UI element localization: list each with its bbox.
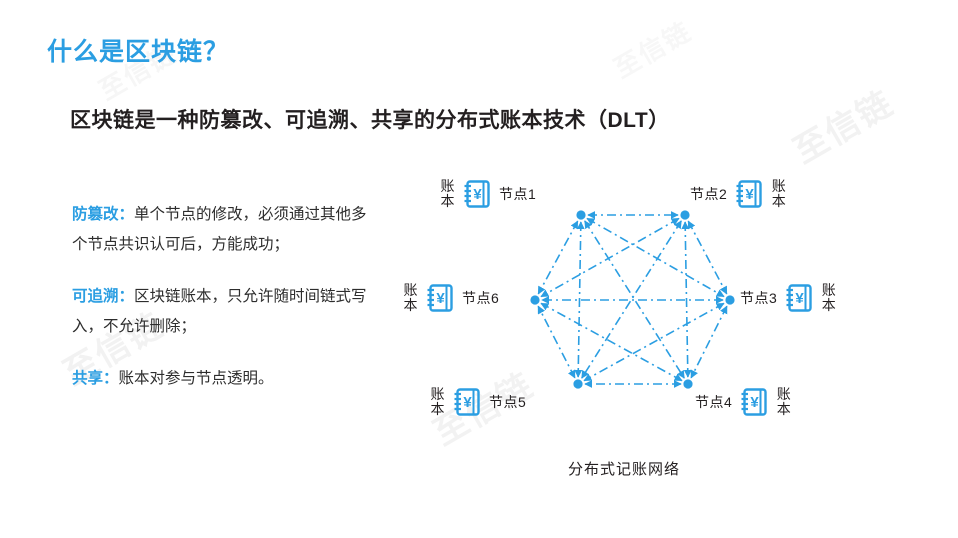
ledger-book-icon: ¥ bbox=[452, 386, 482, 418]
bullet-key: 防篡改 bbox=[72, 206, 119, 223]
ledger-label: 账本 bbox=[771, 179, 786, 209]
diagram-caption: 分布式记账网络 bbox=[568, 458, 680, 479]
node-cluster-node6[interactable]: 账本¥节点6 bbox=[403, 282, 499, 314]
svg-text:¥: ¥ bbox=[746, 186, 755, 203]
network-edge bbox=[691, 306, 727, 377]
watermark: 至信链 bbox=[783, 76, 901, 172]
page-title: 什么是区块链？ bbox=[47, 32, 229, 68]
node-label-node3: 节点3 bbox=[740, 288, 777, 308]
svg-text:¥: ¥ bbox=[751, 394, 760, 411]
list-item: 防篡改：单个节点的修改，必须通过其他多个节点共识认可后，方能成功； bbox=[72, 200, 372, 260]
network-edge bbox=[584, 303, 724, 380]
node-cluster-node1[interactable]: 账本¥节点1 bbox=[440, 178, 536, 210]
network-node-node5[interactable] bbox=[573, 379, 582, 388]
distributed-ledger-network-diagram: 账本¥节点1节点2¥账本节点3¥账本节点4¥账本账本¥节点5账本¥节点6 bbox=[395, 160, 915, 490]
ledger-label: 账本 bbox=[403, 283, 418, 313]
node-cluster-node5[interactable]: 账本¥节点5 bbox=[430, 386, 526, 418]
node-label-node2: 节点2 bbox=[690, 184, 727, 204]
bullet-separator: ： bbox=[119, 206, 135, 223]
bullet-key: 共享 bbox=[72, 370, 103, 387]
ledger-book-icon: ¥ bbox=[739, 386, 769, 418]
bullet-list: 防篡改：单个节点的修改，必须通过其他多个节点共识认可后，方能成功； 可追溯：区块… bbox=[72, 200, 372, 394]
network-edge bbox=[541, 303, 682, 380]
node-label-node6: 节点6 bbox=[462, 288, 499, 308]
bullet-separator: ： bbox=[119, 288, 135, 305]
svg-text:¥: ¥ bbox=[463, 394, 472, 411]
svg-text:¥: ¥ bbox=[473, 186, 482, 203]
network-edge bbox=[685, 222, 688, 377]
slide-canvas: 至信链 至信链 至信链 至信链 至信链 什么是区块链？ 区块链是一种防篡改、可追… bbox=[0, 0, 958, 538]
network-edge bbox=[538, 221, 577, 294]
svg-text:¥: ¥ bbox=[436, 290, 445, 307]
svg-text:¥: ¥ bbox=[796, 290, 805, 307]
ledger-book-icon: ¥ bbox=[734, 178, 764, 210]
bullet-key: 可追溯 bbox=[72, 288, 119, 305]
node-label-node5: 节点5 bbox=[489, 392, 526, 412]
ledger-label: 账本 bbox=[821, 283, 836, 313]
network-edge bbox=[538, 306, 575, 378]
ledger-book-icon: ¥ bbox=[784, 282, 814, 314]
node-cluster-node3[interactable]: 节点3¥账本 bbox=[740, 282, 836, 314]
node-label-node1: 节点1 bbox=[499, 184, 536, 204]
network-node-node2[interactable] bbox=[680, 210, 689, 219]
ledger-label: 账本 bbox=[430, 387, 445, 417]
node-label-node4: 节点4 bbox=[695, 392, 732, 412]
network-node-node1[interactable] bbox=[576, 210, 585, 219]
node-cluster-node4[interactable]: 节点4¥账本 bbox=[695, 386, 791, 418]
list-item: 可追溯：区块链账本，只允许随时间链式写入，不允许删除； bbox=[72, 282, 372, 342]
ledger-book-icon: ¥ bbox=[462, 178, 492, 210]
network-edge bbox=[578, 222, 581, 377]
ledger-book-icon: ¥ bbox=[425, 282, 455, 314]
network-node-node6[interactable] bbox=[530, 295, 539, 304]
node-cluster-node2[interactable]: 节点2¥账本 bbox=[690, 178, 786, 210]
bullet-text: 账本对参与节点透明。 bbox=[119, 370, 274, 387]
watermark: 至信链 bbox=[606, 11, 697, 85]
network-node-node4[interactable] bbox=[683, 379, 692, 388]
network-edge bbox=[688, 221, 726, 294]
ledger-label: 账本 bbox=[440, 179, 455, 209]
page-subtitle: 区块链是一种防篡改、可追溯、共享的分布式账本技术（DLT） bbox=[70, 104, 670, 134]
network-node-node3[interactable] bbox=[725, 295, 734, 304]
ledger-label: 账本 bbox=[776, 387, 791, 417]
bullet-separator: ： bbox=[103, 370, 119, 387]
list-item: 共享：账本对参与节点透明。 bbox=[72, 364, 372, 394]
